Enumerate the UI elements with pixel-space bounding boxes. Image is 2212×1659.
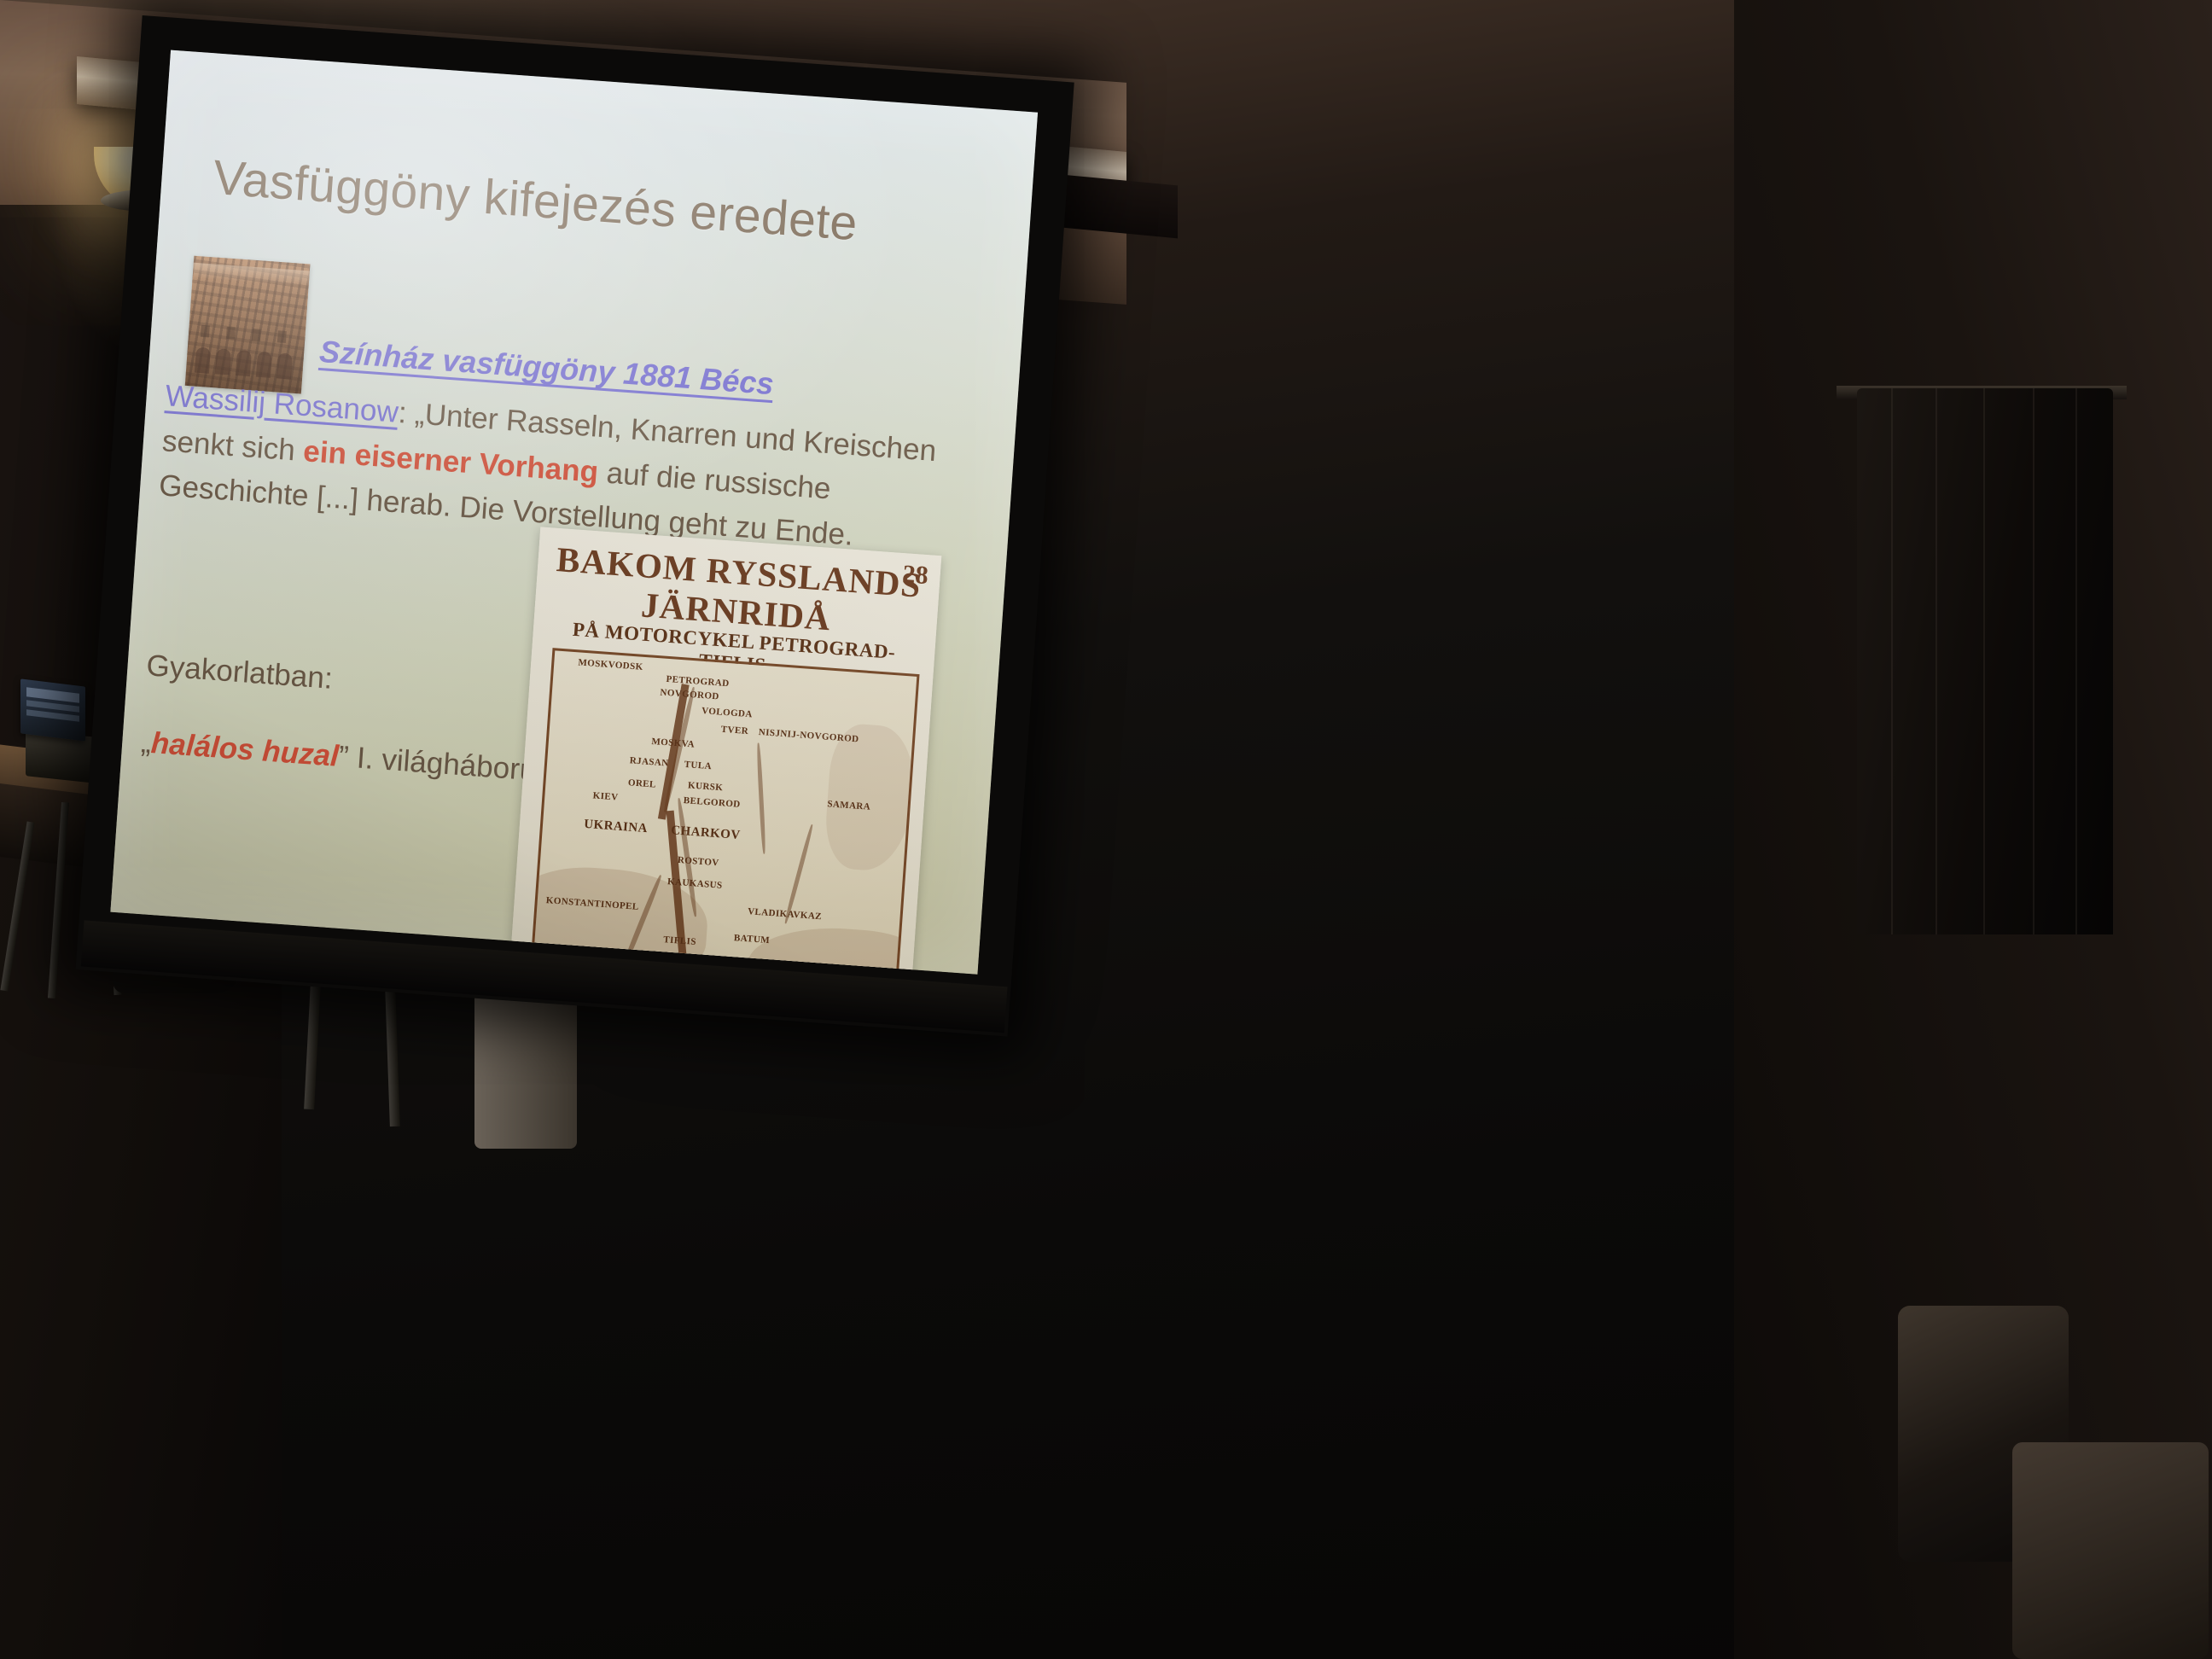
russia-map-illustration: BAKOM RYSSLANDS JÄRNRIDÅ 28 PÅ MOTORCYKE… <box>509 527 941 974</box>
window-curtain <box>1857 388 2113 934</box>
author-hyperlink[interactable]: Wassilij Rosanow <box>164 379 399 429</box>
screen-surface: Vasfüggöny kifejezés eredete Színház vas… <box>110 50 1038 975</box>
practice-label: Gyakorlatban: <box>145 649 334 696</box>
presentation-slide: Vasfüggöny kifejezés eredete Színház vas… <box>110 50 1038 975</box>
slide-title: Vasfüggöny kifejezés eredete <box>212 149 1010 263</box>
practice-quote-close: ” I. világháború <box>337 740 537 788</box>
projection-screen: Vasfüggöny kifejezés eredete Színház vas… <box>74 0 1091 1058</box>
practice-quote-red: halálos huzal <box>150 726 341 773</box>
map-body: MOSKVODSK PETROGRAD NOVGOROD VOLOGDA TVE… <box>531 648 920 975</box>
practice-quote: „halálos huzal” I. világháború <box>140 725 538 788</box>
desk-plaque-1 <box>20 678 85 741</box>
room-scene: Vasfüggöny kifejezés eredete Színház vas… <box>0 0 2212 1659</box>
map-plate-number: 28 <box>901 560 928 591</box>
vienna-theater-thumbnail <box>185 256 311 394</box>
chair-right-second <box>2012 1442 2209 1659</box>
quote-highlighted-phrase: ein eiserner Vorhang <box>302 434 599 489</box>
